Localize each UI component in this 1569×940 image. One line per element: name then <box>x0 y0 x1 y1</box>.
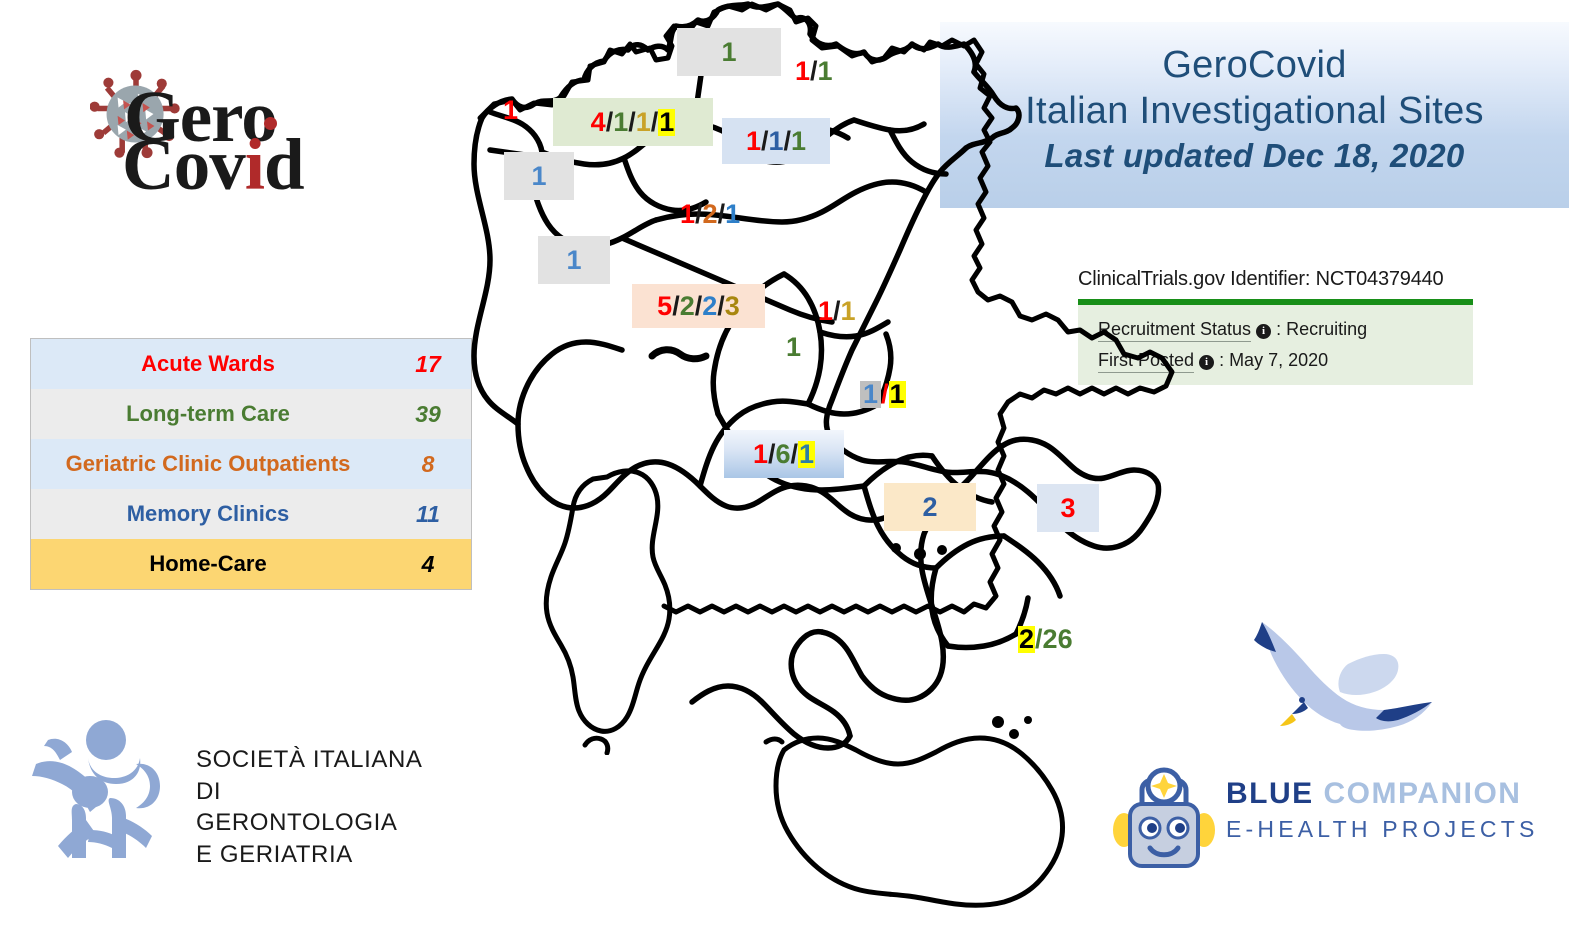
map-label-part: 1 <box>786 334 801 361</box>
map-label-part: 6 <box>775 441 790 468</box>
map-label-abruzzo-molise: 1/1 <box>860 381 906 408</box>
map-label-part: / <box>791 441 799 468</box>
sigg-text: SOCIETÀ ITALIANA DI GERONTOLOGIA E GERIA… <box>196 744 428 871</box>
map-label-part: 1 <box>860 381 881 408</box>
blue-companion-title: BLUE COMPANION <box>1226 778 1539 810</box>
map-label-campania: 2 <box>884 483 976 531</box>
map-label-part: 1 <box>889 381 906 408</box>
blue-companion-logo: BLUE COMPANION E-HEALTH PROJECTS <box>1108 614 1548 870</box>
sigg-line-1: SOCIETÀ ITALIANA <box>196 744 428 776</box>
map-label-part: / <box>761 128 769 155</box>
map-label-lombardia: 4/1/1/1 <box>553 98 713 146</box>
map-label-part: 1 <box>818 58 833 85</box>
map-label-part: / <box>768 441 776 468</box>
first-posted-value: : May 7, 2020 <box>1219 350 1328 370</box>
info-icon[interactable]: i <box>1199 355 1214 370</box>
tuscan-islands <box>642 330 762 390</box>
map-label-part: 1 <box>636 109 651 136</box>
map-label-part: 2 <box>922 494 937 521</box>
legend-row: Home-Care4 <box>31 539 471 589</box>
legend-table: Acute Wards17Long-term Care39Geriatric C… <box>30 338 472 590</box>
map-label-part: / <box>784 128 792 155</box>
map-label-part: 1 <box>725 201 740 228</box>
gerocovid-word-covid: Covid <box>122 128 304 201</box>
sigg-logo: SOCIETÀ ITALIANA DI GERONTOLOGIA E GERIA… <box>28 712 428 862</box>
map-label-part: / <box>1035 626 1043 653</box>
legend-row-value: 17 <box>385 351 471 378</box>
map-label-part: / <box>651 109 659 136</box>
map-label-emilia-romagna: 1/2/1 <box>680 201 740 228</box>
legend-row-value: 8 <box>385 451 471 478</box>
map-label-part: 1 <box>841 298 856 325</box>
map-label-part: 1 <box>818 298 833 325</box>
map-label-part: 3 <box>1060 495 1075 522</box>
legend-row: Long-term Care39 <box>31 389 471 439</box>
map-label-friuli-venezia-giulia: 1/1 <box>795 58 833 85</box>
map-label-part: 26 <box>1043 626 1073 653</box>
map-label-part: 2 <box>703 201 718 228</box>
gerocovid-logo: Gero Covid <box>82 62 347 207</box>
map-label-marche: 1/1 <box>818 298 856 325</box>
map-label-part: 1 <box>798 441 815 468</box>
map-label-lazio: 1/6/1 <box>724 430 844 478</box>
map-label-part: 1 <box>531 163 546 190</box>
legend-row: Acute Wards17 <box>31 339 471 389</box>
map-label-veneto: 1/1/1 <box>722 118 830 164</box>
recruitment-status-value: : Recruiting <box>1276 319 1367 339</box>
map-label-part: / <box>606 109 614 136</box>
map-label-part: / <box>881 381 889 408</box>
map-label-part: 1 <box>658 109 675 136</box>
legend-row: Geriatric Clinic Outpatients8 <box>31 439 471 489</box>
map-label-part: 1 <box>746 128 761 155</box>
legend-row-value: 11 <box>385 501 471 528</box>
map-label-part: 2 <box>1018 626 1035 653</box>
map-label-toscana: 5/2/2/3 <box>632 284 765 328</box>
legend-row-value: 4 <box>385 551 471 578</box>
info-icon[interactable]: i <box>1256 324 1271 339</box>
legend-row-label: Long-term Care <box>31 401 385 427</box>
map-label-part: / <box>833 298 841 325</box>
legend-row-label: Acute Wards <box>31 351 385 377</box>
map-label-part: 4 <box>591 109 606 136</box>
map-label-piemonte: 1 <box>504 152 574 200</box>
map-label-puglia: 3 <box>1037 484 1099 532</box>
sigg-line-2: DI GERONTOLOGIA <box>196 776 428 839</box>
map-label-part: / <box>628 109 636 136</box>
legend-row-value: 39 <box>385 401 471 428</box>
sigg-line-3: E GERIATRIA <box>196 839 428 871</box>
map-label-part: 2 <box>680 293 695 320</box>
map-label-part: / <box>695 201 703 228</box>
map-label-valle-daosta: 1 <box>503 97 518 124</box>
map-label-part: 1 <box>753 441 768 468</box>
sigg-people-icon <box>28 712 188 862</box>
map-label-part: 1 <box>680 201 695 228</box>
blue-companion-wordmark: BLUE COMPANION E-HEALTH PROJECTS <box>1226 778 1539 845</box>
map-label-part: 1 <box>503 97 518 124</box>
map-label-part: 1 <box>791 128 806 155</box>
map-label-part: / <box>718 201 726 228</box>
map-label-trentino-alto-adige: 1 <box>677 28 781 76</box>
legend-row-label: Memory Clinics <box>31 501 385 527</box>
map-label-part: 3 <box>725 293 740 320</box>
blue-companion-tagline: E-HEALTH PROJECTS <box>1226 814 1539 845</box>
legend-row: Memory Clinics11 <box>31 489 471 539</box>
map-label-part: / <box>695 293 703 320</box>
map-label-part: 1 <box>613 109 628 136</box>
map-label-part: / <box>717 293 725 320</box>
map-label-umbria: 1 <box>786 334 801 361</box>
map-label-part: 1 <box>795 58 810 85</box>
map-label-liguria: 1 <box>538 236 610 284</box>
map-label-part: 1 <box>566 247 581 274</box>
map-label-calabria: 2/26 <box>1018 626 1073 653</box>
map-label-part: 1 <box>721 39 736 66</box>
map-label-part: / <box>672 293 680 320</box>
map-label-part: 2 <box>702 293 717 320</box>
legend-row-label: Geriatric Clinic Outpatients <box>31 451 385 477</box>
aeolian-islands <box>980 700 1060 760</box>
map-label-part: 5 <box>657 293 672 320</box>
map-label-part: / <box>810 58 818 85</box>
seagull-icon <box>1188 614 1528 779</box>
legend-row-label: Home-Care <box>31 551 385 577</box>
sicily-outline <box>760 700 1120 940</box>
map-label-part: 1 <box>768 128 783 155</box>
robot-mascot-icon <box>1112 764 1222 874</box>
